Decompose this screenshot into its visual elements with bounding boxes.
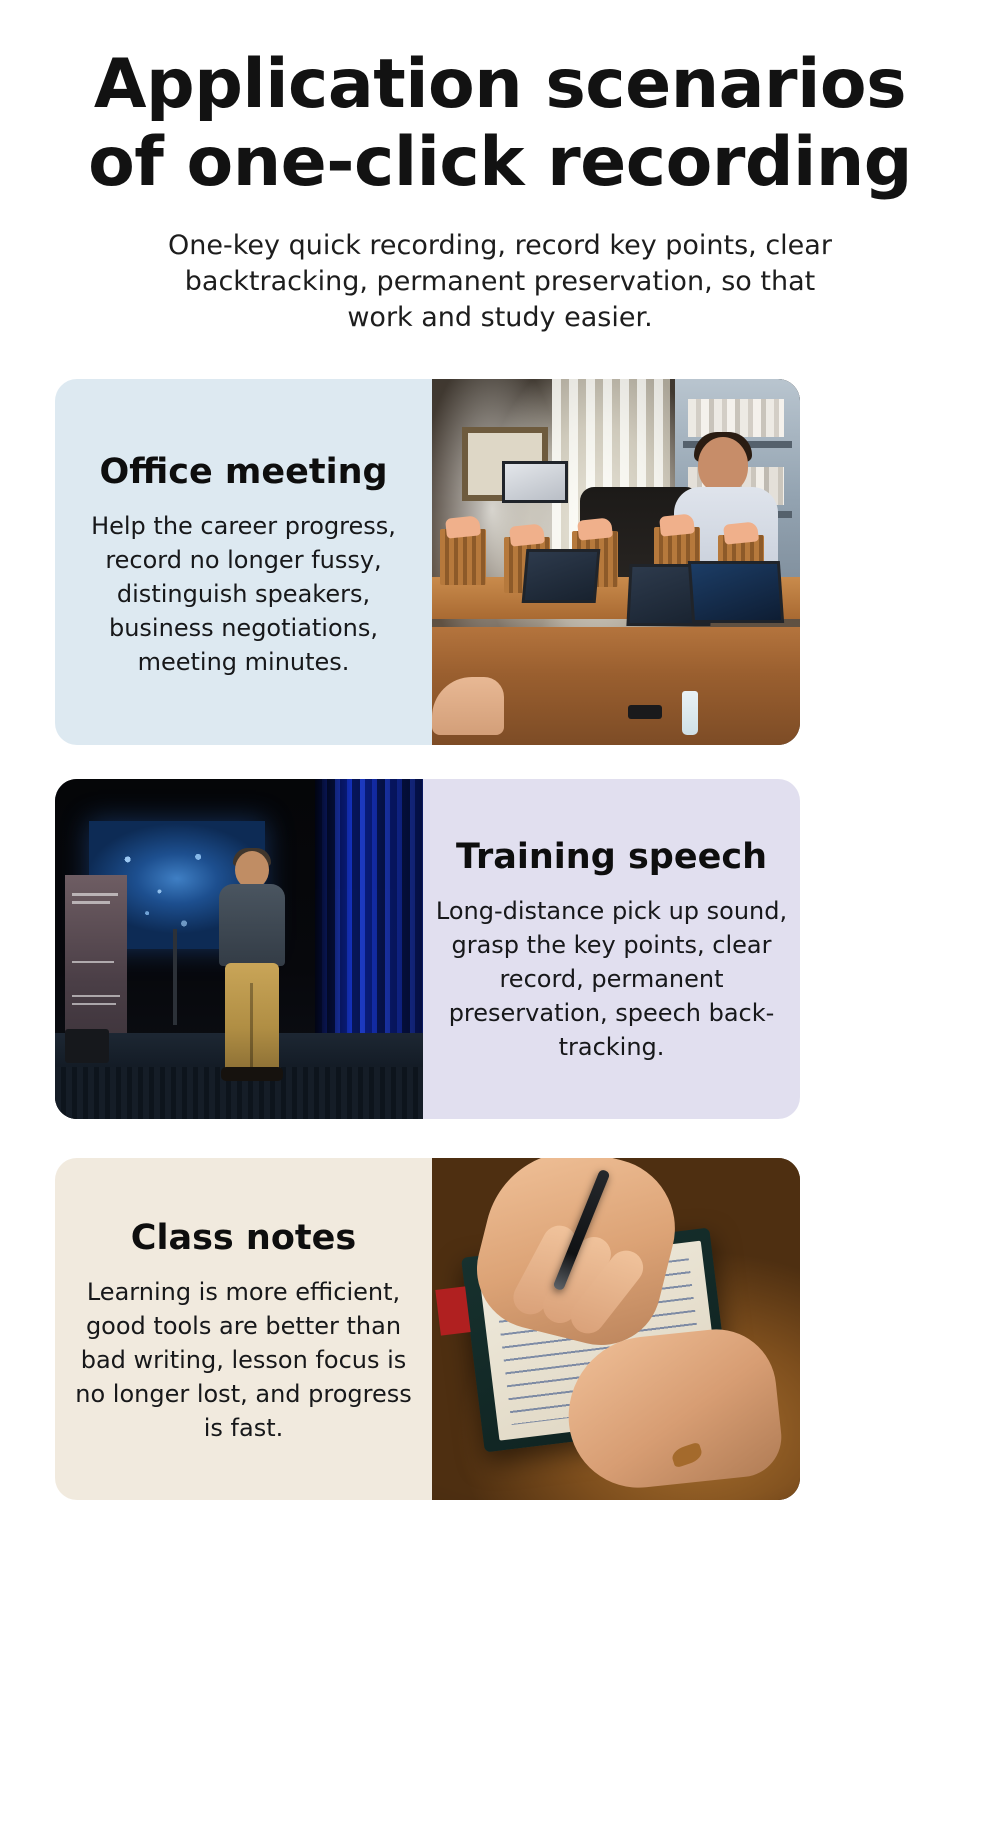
gift-bag [440, 529, 486, 585]
photo-vignette [432, 1158, 800, 1500]
page-header: Application scenarios of one-click recor… [0, 46, 1000, 336]
laptop-back-icon [502, 461, 568, 503]
training-speech-photo [55, 779, 423, 1119]
card-body-text: Long-distance pick up sound, grasp the k… [433, 894, 790, 1064]
card-image-office-meeting [432, 379, 800, 745]
card-heading: Training speech [456, 836, 767, 878]
stage-monitor-speaker [65, 1029, 109, 1063]
phone-icon [628, 705, 662, 719]
card-body-text: Help the career progress, record no long… [65, 509, 422, 679]
water-bottle [682, 691, 698, 735]
class-notes-photo [432, 1158, 800, 1500]
scenario-card-office-meeting: Office meeting Help the career progress,… [55, 379, 800, 745]
presenter-person [205, 851, 301, 1083]
shelf-books-row-1 [688, 399, 784, 437]
laptop-icon [522, 549, 601, 603]
card-image-training-speech [55, 779, 423, 1119]
mic-stand [173, 929, 177, 1025]
laptop-icon [688, 561, 784, 623]
marketing-page: Application scenarios of one-click recor… [0, 0, 1000, 1843]
card-image-class-notes [432, 1158, 800, 1500]
card-text-block: Office meeting Help the career progress,… [55, 379, 432, 745]
page-title: Application scenarios of one-click recor… [0, 46, 1000, 202]
card-text-block: Class notes Learning is more efficient, … [55, 1158, 432, 1500]
scenario-card-training-speech: Training speech Long-distance pick up so… [55, 779, 800, 1119]
card-heading: Class notes [131, 1217, 356, 1259]
card-body-text: Learning is more efficient, good tools a… [65, 1275, 422, 1445]
page-subtitle: One-key quick recording, record key poin… [0, 228, 1000, 336]
office-meeting-photo [432, 379, 800, 745]
scenario-card-class-notes: Class notes Learning is more efficient, … [55, 1158, 800, 1500]
card-heading: Office meeting [99, 451, 387, 493]
card-text-block: Training speech Long-distance pick up so… [423, 779, 800, 1119]
